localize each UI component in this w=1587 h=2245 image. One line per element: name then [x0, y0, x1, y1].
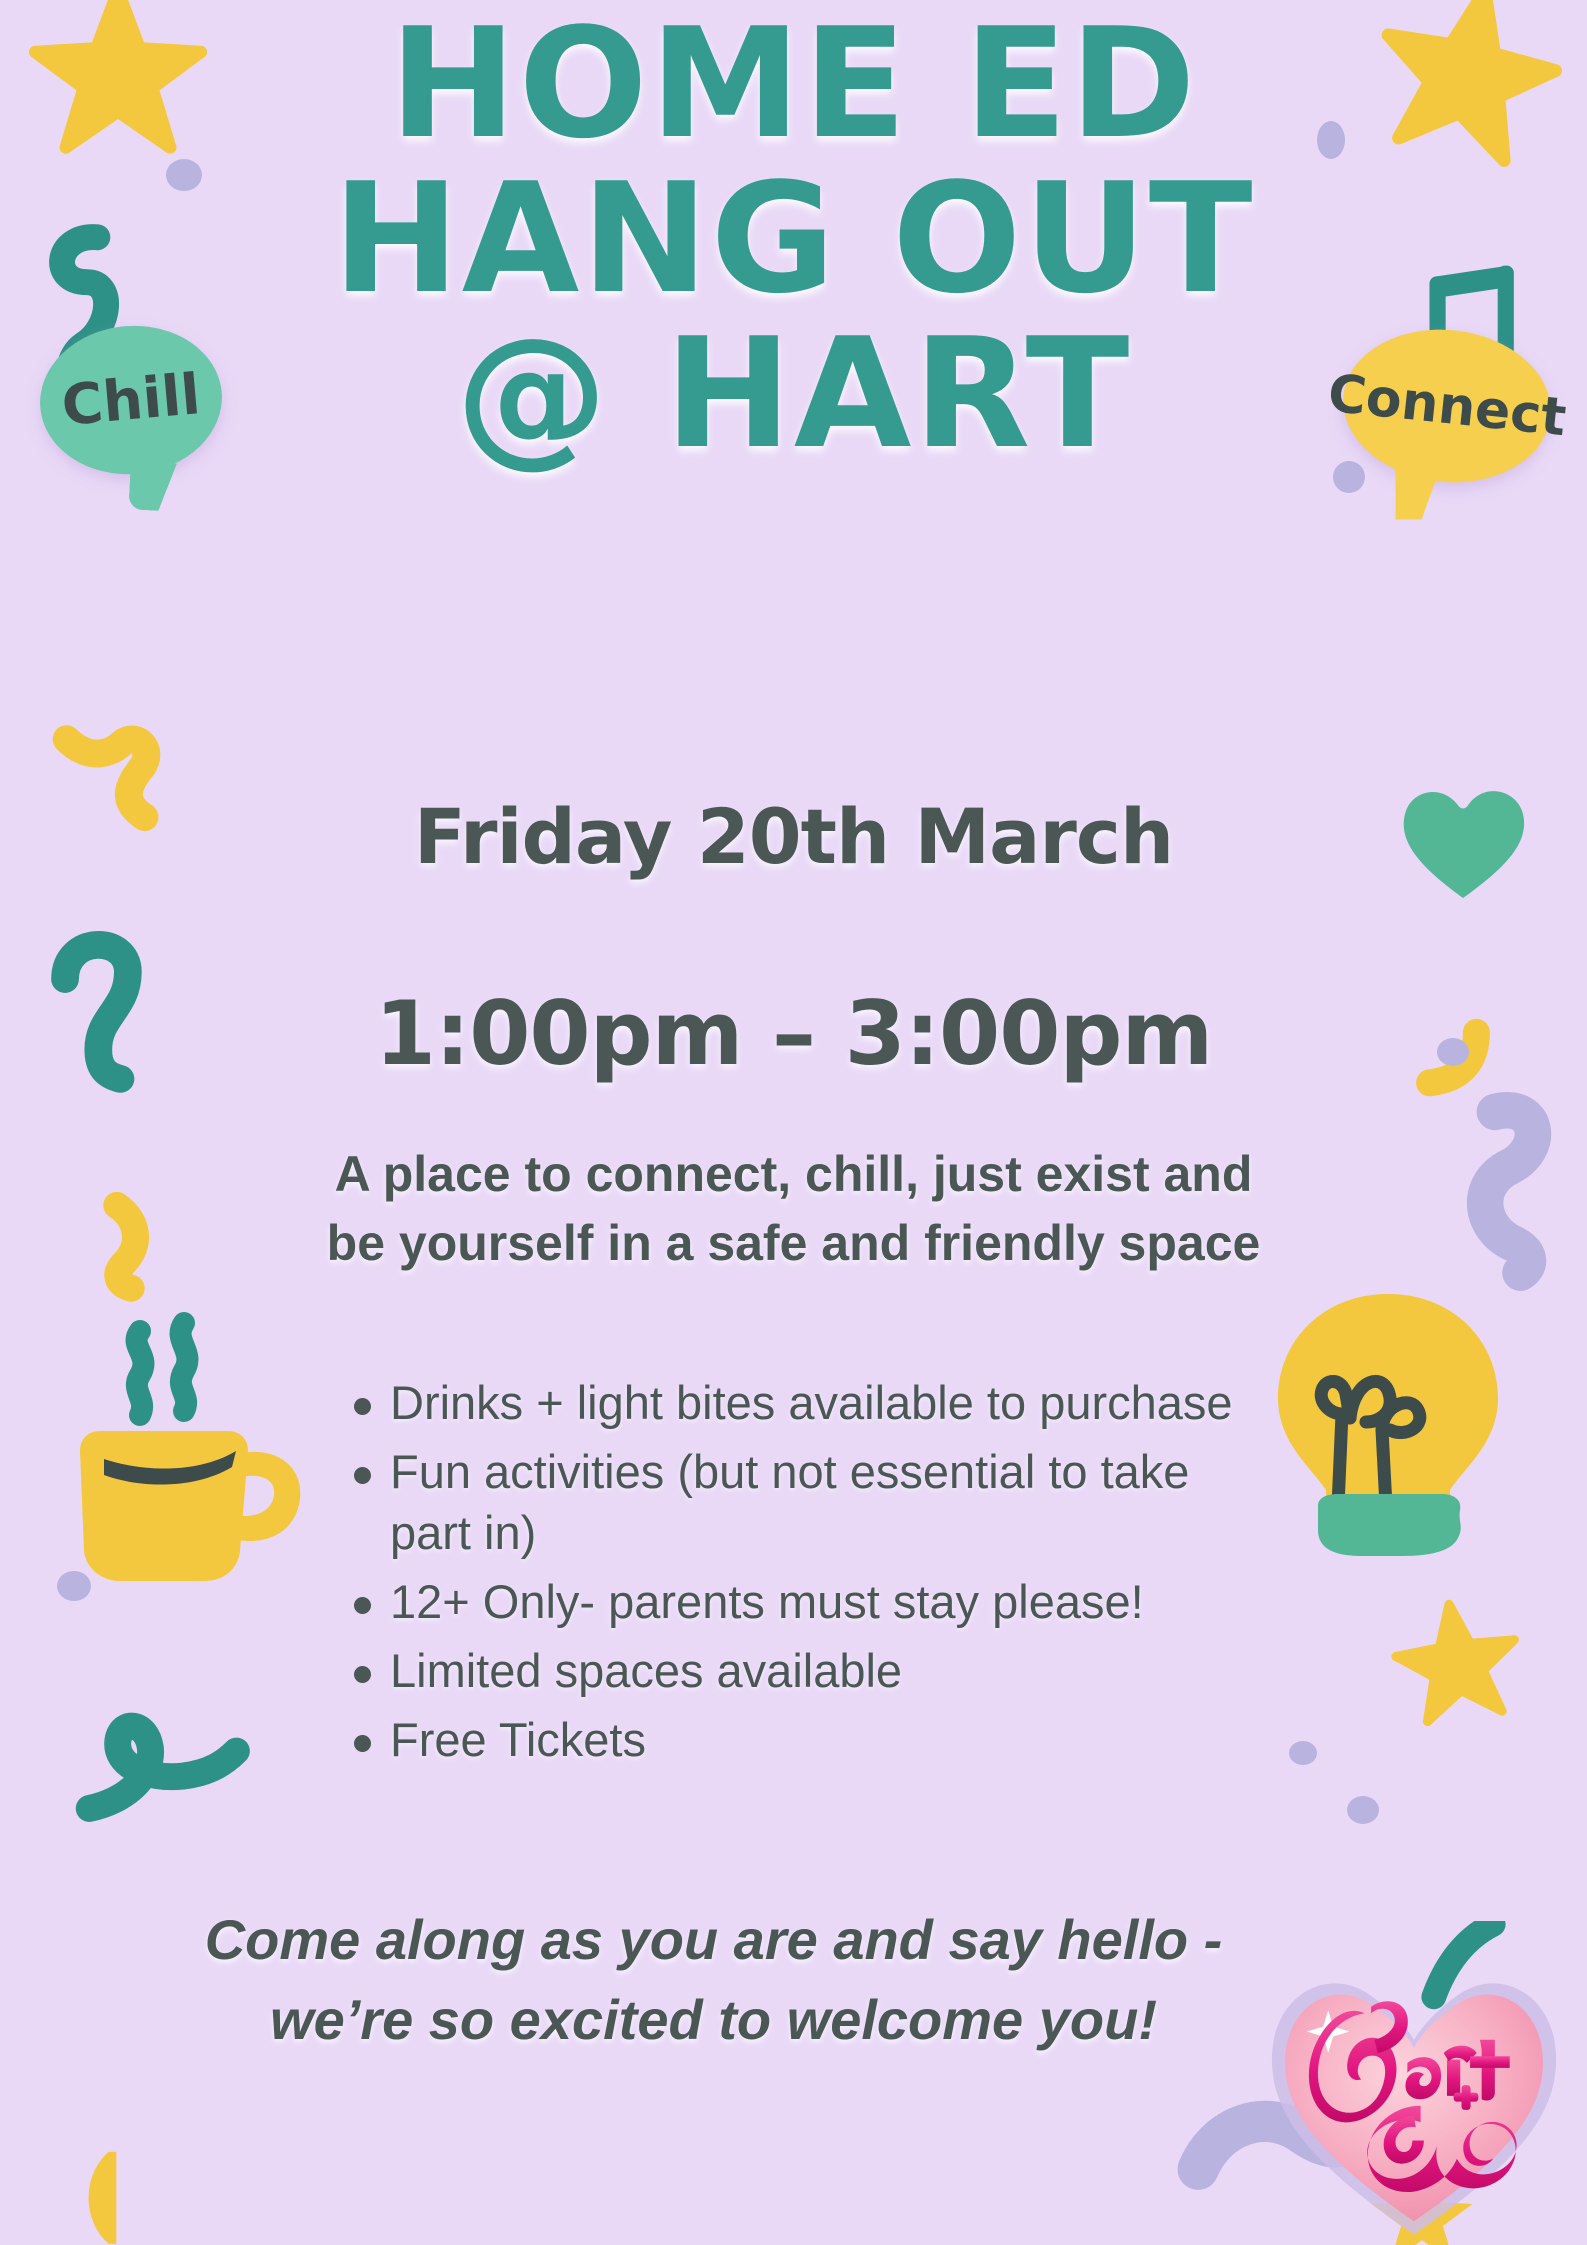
speech-bubble-chill: Chill: [34, 318, 228, 481]
tagline-line-1: A place to connect, chill, just exist an…: [130, 1140, 1457, 1209]
closing-line-2: we’re so excited to welcome you!: [50, 1980, 1377, 2060]
star-icon: [1384, 1588, 1531, 1735]
speech-bubble-tail: [128, 461, 176, 511]
speech-bubble-tail: [1396, 469, 1440, 519]
speech-bubble-chill-label: Chill: [59, 362, 203, 439]
poster-canvas: HOME ED HANG OUT @ HART Chill Connect Fr…: [0, 0, 1587, 2245]
speech-bubble-icon: Connect: [1336, 320, 1559, 493]
tagline-line-2: be yourself in a safe and friendly space: [130, 1209, 1457, 1278]
list-item: Drinks + light bites available to purcha…: [348, 1372, 1268, 1433]
headline-line-1: HOME ED: [0, 6, 1587, 161]
event-date: Friday 20th March: [0, 792, 1587, 881]
speech-bubble-connect-label: Connect: [1325, 364, 1569, 449]
dot-icon: [56, 1570, 92, 1602]
event-details-list: Drinks + light bites available to purcha…: [348, 1372, 1268, 1779]
list-item: Fun activities (but not essential to tak…: [348, 1441, 1268, 1563]
lightbulb-icon: [1258, 1282, 1518, 1562]
event-time: 1:00pm – 3:00pm: [0, 982, 1587, 1085]
hart-and-co-heart-logo: [1249, 1921, 1579, 2245]
list-item: Free Tickets: [348, 1709, 1268, 1770]
squiggle-icon: [70, 1690, 270, 1830]
headline-line-2: HANG OUT: [0, 161, 1587, 316]
list-item: Limited spaces available: [348, 1640, 1268, 1701]
squiggle-icon: [78, 2148, 124, 2244]
list-item: 12+ Only- parents must stay please!: [348, 1571, 1268, 1632]
dot-icon: [1288, 1740, 1318, 1766]
closing-message: Come along as you are and say hello - we…: [50, 1900, 1377, 2059]
speech-bubble-connect: Connect: [1336, 320, 1559, 493]
dot-icon: [1346, 1795, 1380, 1825]
speech-bubble-icon: Chill: [34, 318, 228, 481]
squiggle-icon: [1450, 1090, 1580, 1280]
closing-line-1: Come along as you are and say hello -: [50, 1900, 1377, 1980]
event-tagline: A place to connect, chill, just exist an…: [130, 1140, 1457, 1278]
coffee-cup-icon: [60, 1295, 330, 1585]
